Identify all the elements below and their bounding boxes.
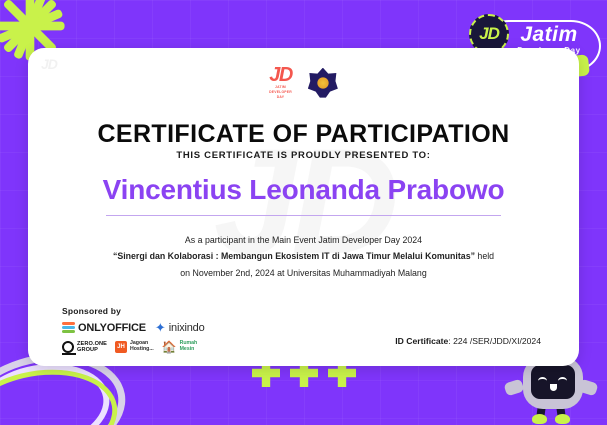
jdd-logo-caption-3: DAY: [269, 95, 292, 99]
certificate-title: CERTIFICATE OF PARTICIPATION: [28, 120, 579, 149]
sponsor-jagoan-hosting: JH Jagoan Hosting...: [115, 341, 154, 353]
certificate-id: ID Certificate: 224 /SER/JDD/XI/2024: [395, 336, 541, 346]
certificate-id-value: 224 /SER/JDD/XI/2024: [453, 336, 541, 346]
sponsor-zeroone-label: ZERO.ONE GROUP: [77, 341, 107, 354]
onlyoffice-stack-icon: [62, 322, 75, 334]
sponsor-inixindo-label: inixindo: [169, 322, 205, 334]
certificate-card: JD JD JD JATIM DEVELOPER DAY CERTIFICATE…: [28, 48, 579, 366]
recipient-name: Vincentius Leonanda Prabowo: [28, 174, 579, 206]
sponsor-jagoan-line2: Hosting...: [130, 346, 154, 352]
sponsor-rumahmesin-line2: Mesin: [180, 346, 195, 352]
body-line-2: “Sinergi dan Kolaborasi : Membangun Ekos…: [68, 248, 539, 264]
robot-face-screen: [531, 365, 575, 399]
sponsor-inixindo: ✦ inixindo: [155, 321, 205, 334]
zeroone-circle-icon: [62, 341, 74, 353]
university-emblem-icon: [308, 68, 338, 98]
inixindo-bird-icon: ✦: [155, 321, 166, 334]
robot-eye-right-icon: [558, 377, 567, 385]
certificate-canvas: Jatim Developer Day JD Malang JD JD: [0, 0, 607, 425]
header-logos: JD JATIM DEVELOPER DAY: [28, 66, 579, 99]
sponsor-jagoan-label: Jagoan Hosting...: [130, 341, 154, 353]
sponsors-label: Sponsored by: [62, 306, 205, 316]
sponsor-rumahmesin-label: Rumah Mesin: [180, 341, 198, 353]
sponsor-onlyoffice: ONLYOFFICE: [62, 322, 146, 334]
jdd-logo-caption-2: DEVELOPER: [269, 90, 292, 94]
robot-foot-right: [555, 414, 570, 424]
jagoan-hosting-icon: JH: [115, 341, 127, 353]
emblem-sun-shape: [315, 75, 331, 91]
name-underline: [106, 215, 501, 216]
event-theme-quote: “Sinergi dan Kolaborasi : Membangun Ekos…: [113, 251, 475, 261]
body-line-3: on November 2nd, 2024 at Universitas Muh…: [68, 265, 539, 281]
sponsors-section: Sponsored by ONLYOFFICE ✦ inixindo: [62, 306, 205, 354]
certificate-body: As a participant in the Main Event Jatim…: [68, 232, 539, 281]
robot-arm-left: [503, 379, 524, 397]
robot-eye-left-icon: [538, 377, 547, 385]
robot-mouth-icon: [550, 384, 557, 391]
jd-coin-label: JD: [479, 24, 499, 44]
certificate-id-label: ID Certificate: [395, 336, 448, 346]
sponsors-row-secondary: ZERO.ONE GROUP JH Jagoan Hosting... 🏠 Ru…: [62, 341, 205, 354]
certificate-id-separator: :: [448, 336, 450, 346]
sponsor-zeroone-line2: GROUP: [77, 347, 98, 353]
sponsor-zeroone-line1: ZERO.ONE: [77, 341, 107, 347]
jdd-logo-mark: JD: [269, 64, 292, 86]
body-line-2-suffix: held: [475, 251, 494, 261]
robot-foot-left: [532, 414, 547, 424]
sponsor-onlyoffice-label: ONLYOFFICE: [78, 322, 146, 334]
badge-title: Jatim: [501, 24, 597, 45]
sponsor-zeroone: ZERO.ONE GROUP: [62, 341, 107, 354]
sponsors-row-primary: ONLYOFFICE ✦ inixindo: [62, 321, 205, 334]
certificate-subtitle: THIS CERTIFICATE IS PROUDLY PRESENTED TO…: [28, 150, 579, 161]
sponsor-rumah-mesin: 🏠 Rumah Mesin: [162, 341, 198, 353]
rumah-mesin-icon: 🏠: [162, 341, 177, 353]
body-line-1: As a participant in the Main Event Jatim…: [68, 232, 539, 248]
jdd-logo-icon: JD JATIM DEVELOPER DAY: [269, 66, 292, 99]
